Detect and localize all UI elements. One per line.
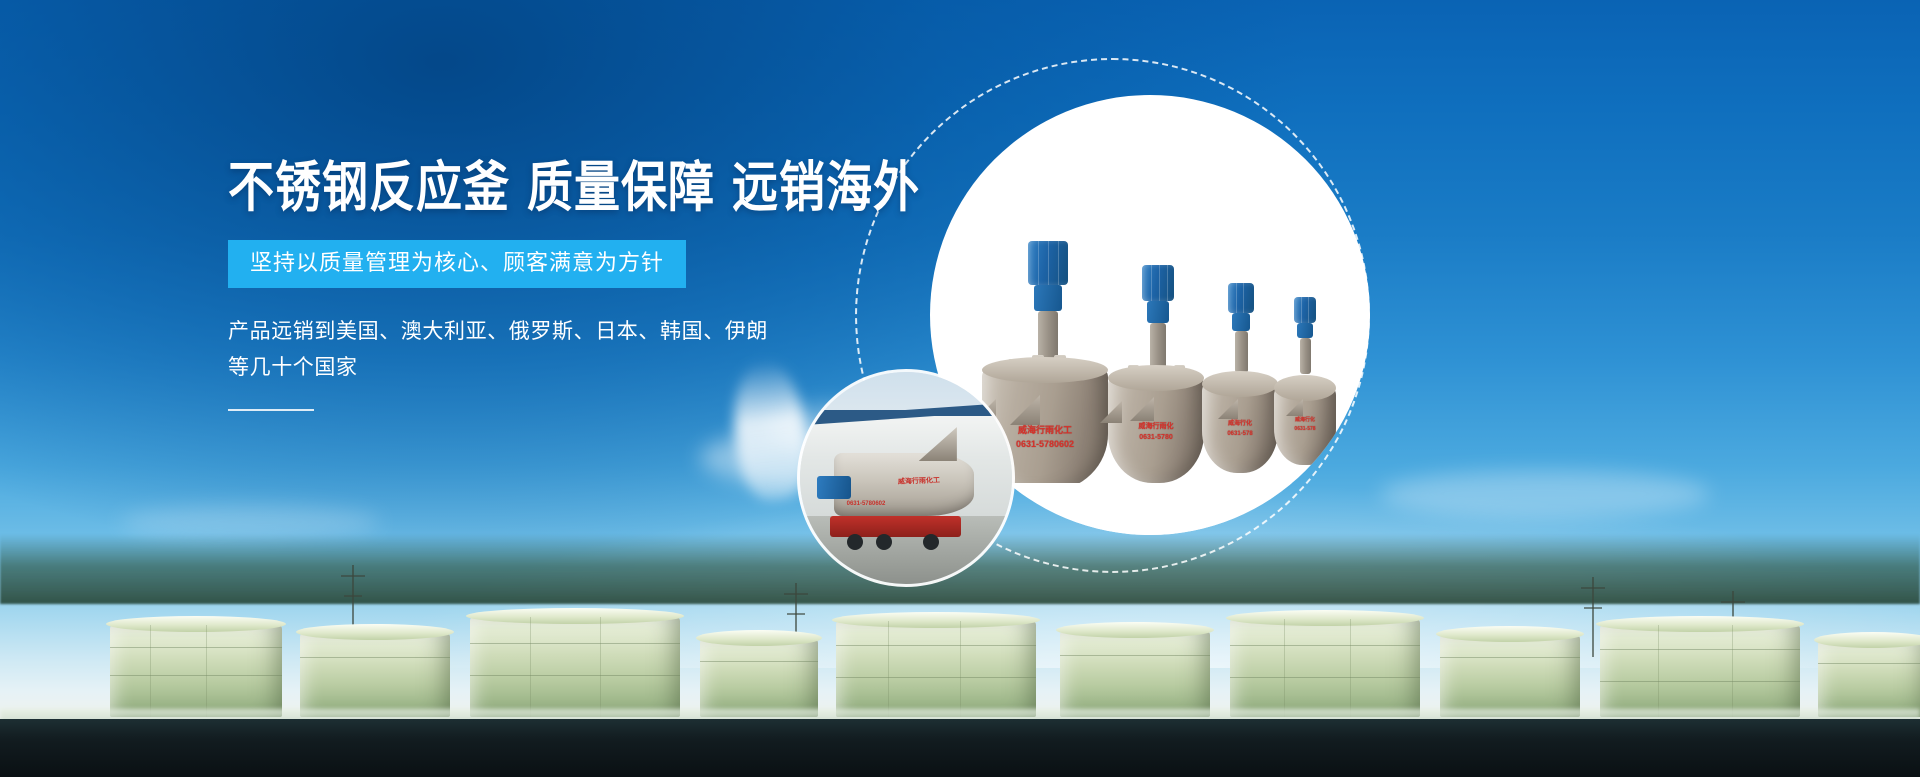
vessel-neck xyxy=(1300,338,1311,374)
vessel-body: 威海行雨化 0631-5780 xyxy=(1108,375,1204,483)
agitator-motor xyxy=(1142,265,1174,301)
vessel-company-label: 威海行化 xyxy=(1274,417,1336,423)
banner-subtitle-badge: 坚持以质量管理为核心、顾客满意为方针 xyxy=(228,240,686,288)
inset-wheel xyxy=(923,534,939,550)
agitator-motor xyxy=(1028,241,1068,285)
banner-description: 产品远销到美国、澳大利亚、俄罗斯、日本、韩国、伊朗 等几十个国家 xyxy=(228,314,888,388)
support-lug xyxy=(1010,395,1040,425)
vessel-company-label: 威海行化 xyxy=(1202,421,1278,429)
storage-tank xyxy=(1818,641,1920,717)
vessel-neck xyxy=(1235,331,1248,373)
divider-rule xyxy=(228,409,314,411)
gearbox xyxy=(1297,323,1313,338)
inset-phone-label: 0631-5780602 xyxy=(847,501,886,508)
support-lug xyxy=(1286,399,1303,416)
storage-tank xyxy=(300,633,450,717)
banner-description-line-1: 产品远销到美国、澳大利亚、俄罗斯、日本、韩国、伊朗 xyxy=(228,314,888,351)
support-lug xyxy=(1218,399,1238,419)
vessel-phone-label: 0631-578 xyxy=(1202,431,1278,439)
support-lug xyxy=(1130,397,1154,421)
vessel-phone-label: 0631-578 xyxy=(1274,426,1336,432)
storage-tank xyxy=(1230,619,1420,717)
agitator-motor xyxy=(1294,297,1316,323)
inset-agitator-motor xyxy=(817,476,851,499)
vessel-body: 威海行化 0631-578 xyxy=(1202,381,1278,473)
storage-tank xyxy=(110,625,282,717)
agitator-motor xyxy=(1228,283,1254,313)
banner-headline: 不锈钢反应釜 质量保障 远销海外 xyxy=(228,160,888,214)
storage-tank xyxy=(1060,631,1210,717)
vessel-body: 威海行化 0631-578 xyxy=(1274,385,1336,465)
storage-tank xyxy=(1440,635,1580,717)
banner-copy-block: 不锈钢反应釜 质量保障 远销海外 坚持以质量管理为核心、顾客满意为方针 产品远销… xyxy=(228,160,888,411)
gearbox xyxy=(1232,313,1250,331)
vessel-phone-label: 0631-5780 xyxy=(1108,434,1204,443)
reactor-vessel: 威海行雨化 0631-5780 xyxy=(1108,265,1204,483)
gearbox xyxy=(1034,285,1062,311)
reactor-vessel: 威海行化 0631-578 xyxy=(1274,297,1336,465)
banner-stage: 威海行雨化工 0631-5780602 威海行雨化 0631-5780 xyxy=(0,0,1920,777)
vessel-company-label: 威海行雨化 xyxy=(1108,423,1204,432)
storage-tank xyxy=(836,621,1036,717)
storage-tank-row xyxy=(0,577,1920,717)
storage-tank xyxy=(470,617,680,717)
cloud xyxy=(1380,470,1710,518)
inset-transport-trailer xyxy=(830,516,961,537)
vessel-neck xyxy=(1150,323,1166,371)
inset-company-label: 威海行雨化工 xyxy=(897,477,939,487)
water-band xyxy=(0,719,1920,777)
storage-tank xyxy=(700,639,818,717)
gearbox xyxy=(1147,301,1169,323)
banner-description-line-2: 等几十个国家 xyxy=(228,350,888,387)
reactor-vessel: 威海行化 0631-578 xyxy=(1202,283,1278,473)
inset-wheel xyxy=(847,534,863,550)
storage-tank xyxy=(1600,625,1800,717)
